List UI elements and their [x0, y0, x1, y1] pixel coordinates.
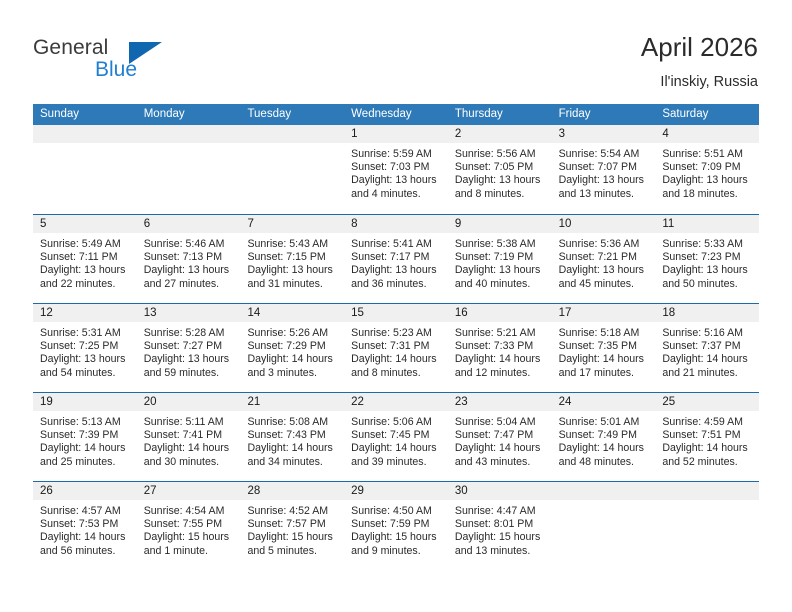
- day-detail-line: Sunrise: 5:43 AM: [247, 238, 338, 251]
- day-details: [240, 143, 344, 148]
- day-detail-line: Sunrise: 5:51 AM: [662, 148, 753, 161]
- day-number: 30: [448, 482, 552, 500]
- weekday-header-wednesday: Wednesday: [344, 104, 448, 125]
- day-detail-line: Sunrise: 5:38 AM: [455, 238, 546, 251]
- day-details: Sunrise: 5:46 AMSunset: 7:13 PMDaylight:…: [137, 233, 241, 291]
- day-detail-line: Sunrise: 5:01 AM: [559, 416, 650, 429]
- calendar-day-cell[interactable]: 20Sunrise: 5:11 AMSunset: 7:41 PMDayligh…: [137, 393, 241, 481]
- day-number: 20: [137, 393, 241, 411]
- day-detail-line: and 4 minutes.: [351, 188, 442, 201]
- day-number: 22: [344, 393, 448, 411]
- day-detail-line: Daylight: 13 hours: [351, 174, 442, 187]
- day-detail-line: and 1 minute.: [144, 545, 235, 558]
- day-detail-line: Sunset: 7:45 PM: [351, 429, 442, 442]
- day-detail-line: Sunrise: 5:04 AM: [455, 416, 546, 429]
- day-detail-line: Daylight: 13 hours: [662, 174, 753, 187]
- calendar-day-cell[interactable]: 6Sunrise: 5:46 AMSunset: 7:13 PMDaylight…: [137, 215, 241, 303]
- calendar-week-row: 5Sunrise: 5:49 AMSunset: 7:11 PMDaylight…: [33, 214, 759, 303]
- day-detail-line: and 17 minutes.: [559, 367, 650, 380]
- day-number: 24: [552, 393, 656, 411]
- day-number: 6: [137, 215, 241, 233]
- day-detail-line: Sunrise: 5:46 AM: [144, 238, 235, 251]
- day-number: [240, 125, 344, 143]
- day-details: Sunrise: 4:57 AMSunset: 7:53 PMDaylight:…: [33, 500, 137, 558]
- day-details: Sunrise: 5:38 AMSunset: 7:19 PMDaylight:…: [448, 233, 552, 291]
- day-detail-line: Sunrise: 4:52 AM: [247, 505, 338, 518]
- day-detail-line: Daylight: 14 hours: [40, 531, 131, 544]
- day-detail-line: Sunset: 7:11 PM: [40, 251, 131, 264]
- calendar-day-cell[interactable]: 2Sunrise: 5:56 AMSunset: 7:05 PMDaylight…: [448, 125, 552, 214]
- day-details: Sunrise: 5:11 AMSunset: 7:41 PMDaylight:…: [137, 411, 241, 469]
- day-details: Sunrise: 5:54 AMSunset: 7:07 PMDaylight:…: [552, 143, 656, 201]
- day-number: 25: [655, 393, 759, 411]
- day-number: 4: [655, 125, 759, 143]
- day-details: Sunrise: 4:50 AMSunset: 7:59 PMDaylight:…: [344, 500, 448, 558]
- calendar-week-row: 19Sunrise: 5:13 AMSunset: 7:39 PMDayligh…: [33, 392, 759, 481]
- day-detail-line: and 13 minutes.: [455, 545, 546, 558]
- page-title: April 2026: [641, 32, 758, 62]
- day-details: Sunrise: 5:01 AMSunset: 7:49 PMDaylight:…: [552, 411, 656, 469]
- day-detail-line: Sunset: 7:49 PM: [559, 429, 650, 442]
- day-number: 9: [448, 215, 552, 233]
- day-detail-line: Sunset: 7:31 PM: [351, 340, 442, 353]
- day-detail-line: Sunset: 8:01 PM: [455, 518, 546, 531]
- day-detail-line: and 30 minutes.: [144, 456, 235, 469]
- day-details: Sunrise: 4:54 AMSunset: 7:55 PMDaylight:…: [137, 500, 241, 558]
- day-detail-line: and 43 minutes.: [455, 456, 546, 469]
- day-number: 19: [33, 393, 137, 411]
- day-detail-line: and 21 minutes.: [662, 367, 753, 380]
- day-detail-line: Sunset: 7:23 PM: [662, 251, 753, 264]
- calendar-day-cell[interactable]: 8Sunrise: 5:41 AMSunset: 7:17 PMDaylight…: [344, 215, 448, 303]
- weekday-header-row: SundayMondayTuesdayWednesdayThursdayFrid…: [33, 104, 759, 125]
- day-number: [552, 482, 656, 500]
- day-number: 26: [33, 482, 137, 500]
- day-detail-line: Daylight: 14 hours: [40, 442, 131, 455]
- weekday-header-sunday: Sunday: [33, 104, 137, 125]
- day-detail-line: Sunset: 7:55 PM: [144, 518, 235, 531]
- day-number: 2: [448, 125, 552, 143]
- day-detail-line: Sunrise: 5:54 AM: [559, 148, 650, 161]
- day-detail-line: Sunset: 7:37 PM: [662, 340, 753, 353]
- day-details: Sunrise: 4:52 AMSunset: 7:57 PMDaylight:…: [240, 500, 344, 558]
- day-detail-line: Sunset: 7:25 PM: [40, 340, 131, 353]
- day-detail-line: Sunrise: 4:47 AM: [455, 505, 546, 518]
- day-detail-line: Daylight: 14 hours: [247, 353, 338, 366]
- day-details: Sunrise: 5:18 AMSunset: 7:35 PMDaylight:…: [552, 322, 656, 380]
- day-number: 14: [240, 304, 344, 322]
- calendar-day-cell[interactable]: 5Sunrise: 5:49 AMSunset: 7:11 PMDaylight…: [33, 215, 137, 303]
- calendar-day-cell-empty: [552, 482, 656, 570]
- day-detail-line: and 50 minutes.: [662, 278, 753, 291]
- day-number: 21: [240, 393, 344, 411]
- day-detail-line: Sunset: 7:33 PM: [455, 340, 546, 353]
- calendar-day-cell[interactable]: 25Sunrise: 4:59 AMSunset: 7:51 PMDayligh…: [655, 393, 759, 481]
- day-details: Sunrise: 5:23 AMSunset: 7:31 PMDaylight:…: [344, 322, 448, 380]
- day-detail-line: Daylight: 13 hours: [455, 174, 546, 187]
- day-detail-line: Sunrise: 5:26 AM: [247, 327, 338, 340]
- day-detail-line: and 27 minutes.: [144, 278, 235, 291]
- day-detail-line: Daylight: 13 hours: [455, 264, 546, 277]
- calendar-day-cell[interactable]: 26Sunrise: 4:57 AMSunset: 7:53 PMDayligh…: [33, 482, 137, 570]
- calendar-day-cell[interactable]: 1Sunrise: 5:59 AMSunset: 7:03 PMDaylight…: [344, 125, 448, 214]
- day-detail-line: Sunrise: 5:56 AM: [455, 148, 546, 161]
- day-details: [552, 500, 656, 505]
- day-detail-line: Sunset: 7:13 PM: [144, 251, 235, 264]
- day-details: Sunrise: 5:51 AMSunset: 7:09 PMDaylight:…: [655, 143, 759, 201]
- day-detail-line: Daylight: 14 hours: [144, 442, 235, 455]
- day-detail-line: and 36 minutes.: [351, 278, 442, 291]
- calendar-weeks: 1Sunrise: 5:59 AMSunset: 7:03 PMDaylight…: [33, 125, 759, 570]
- day-details: Sunrise: 5:28 AMSunset: 7:27 PMDaylight:…: [137, 322, 241, 380]
- page-header: General Blue April 2026 Il'inskiy, Russi…: [0, 0, 792, 104]
- calendar-day-cell[interactable]: 22Sunrise: 5:06 AMSunset: 7:45 PMDayligh…: [344, 393, 448, 481]
- calendar-day-cell[interactable]: 24Sunrise: 5:01 AMSunset: 7:49 PMDayligh…: [552, 393, 656, 481]
- calendar-day-cell[interactable]: 10Sunrise: 5:36 AMSunset: 7:21 PMDayligh…: [552, 215, 656, 303]
- day-number: 17: [552, 304, 656, 322]
- day-detail-line: Sunrise: 5:21 AM: [455, 327, 546, 340]
- day-number: [655, 482, 759, 500]
- day-detail-line: Daylight: 13 hours: [40, 353, 131, 366]
- day-detail-line: and 8 minutes.: [455, 188, 546, 201]
- day-detail-line: Daylight: 14 hours: [351, 353, 442, 366]
- day-number: 13: [137, 304, 241, 322]
- logo-text-blue: Blue: [95, 58, 137, 82]
- weekday-header-thursday: Thursday: [448, 104, 552, 125]
- day-detail-line: and 45 minutes.: [559, 278, 650, 291]
- day-detail-line: and 8 minutes.: [351, 367, 442, 380]
- day-detail-line: Sunset: 7:09 PM: [662, 161, 753, 174]
- day-details: Sunrise: 5:33 AMSunset: 7:23 PMDaylight:…: [655, 233, 759, 291]
- calendar-day-cell[interactable]: 15Sunrise: 5:23 AMSunset: 7:31 PMDayligh…: [344, 304, 448, 392]
- day-number: 18: [655, 304, 759, 322]
- day-number: 29: [344, 482, 448, 500]
- day-detail-line: and 39 minutes.: [351, 456, 442, 469]
- day-detail-line: Sunset: 7:53 PM: [40, 518, 131, 531]
- day-details: Sunrise: 5:16 AMSunset: 7:37 PMDaylight:…: [655, 322, 759, 380]
- day-detail-line: Sunset: 7:35 PM: [559, 340, 650, 353]
- weekday-header-monday: Monday: [137, 104, 241, 125]
- calendar-week-row: 12Sunrise: 5:31 AMSunset: 7:25 PMDayligh…: [33, 303, 759, 392]
- weekday-header-tuesday: Tuesday: [240, 104, 344, 125]
- day-detail-line: and 54 minutes.: [40, 367, 131, 380]
- day-detail-line: Sunrise: 5:08 AM: [247, 416, 338, 429]
- day-number: 1: [344, 125, 448, 143]
- day-detail-line: Daylight: 15 hours: [144, 531, 235, 544]
- day-detail-line: Sunrise: 5:16 AM: [662, 327, 753, 340]
- day-details: Sunrise: 5:21 AMSunset: 7:33 PMDaylight:…: [448, 322, 552, 380]
- day-detail-line: Daylight: 14 hours: [247, 442, 338, 455]
- day-details: Sunrise: 5:36 AMSunset: 7:21 PMDaylight:…: [552, 233, 656, 291]
- day-detail-line: Sunset: 7:51 PM: [662, 429, 753, 442]
- day-number: 3: [552, 125, 656, 143]
- day-detail-line: and 12 minutes.: [455, 367, 546, 380]
- weekday-header-saturday: Saturday: [655, 104, 759, 125]
- day-details: Sunrise: 4:47 AMSunset: 8:01 PMDaylight:…: [448, 500, 552, 558]
- day-detail-line: Sunrise: 5:11 AM: [144, 416, 235, 429]
- day-detail-line: Daylight: 13 hours: [247, 264, 338, 277]
- calendar-day-cell[interactable]: 7Sunrise: 5:43 AMSunset: 7:15 PMDaylight…: [240, 215, 344, 303]
- day-detail-line: Sunrise: 5:36 AM: [559, 238, 650, 251]
- day-detail-line: Daylight: 13 hours: [559, 174, 650, 187]
- day-detail-line: Daylight: 15 hours: [455, 531, 546, 544]
- calendar-day-cell[interactable]: 11Sunrise: 5:33 AMSunset: 7:23 PMDayligh…: [655, 215, 759, 303]
- day-details: Sunrise: 5:56 AMSunset: 7:05 PMDaylight:…: [448, 143, 552, 201]
- day-detail-line: Sunset: 7:19 PM: [455, 251, 546, 264]
- day-detail-line: and 48 minutes.: [559, 456, 650, 469]
- day-detail-line: Sunset: 7:21 PM: [559, 251, 650, 264]
- day-number: 12: [33, 304, 137, 322]
- day-detail-line: Daylight: 13 hours: [662, 264, 753, 277]
- calendar-day-cell-empty: [137, 125, 241, 214]
- calendar-day-cell[interactable]: 19Sunrise: 5:13 AMSunset: 7:39 PMDayligh…: [33, 393, 137, 481]
- calendar-day-cell[interactable]: 16Sunrise: 5:21 AMSunset: 7:33 PMDayligh…: [448, 304, 552, 392]
- day-number: 8: [344, 215, 448, 233]
- day-detail-line: Sunrise: 5:13 AM: [40, 416, 131, 429]
- day-detail-line: Sunset: 7:43 PM: [247, 429, 338, 442]
- day-detail-line: Sunset: 7:03 PM: [351, 161, 442, 174]
- day-detail-line: and 5 minutes.: [247, 545, 338, 558]
- day-details: Sunrise: 5:31 AMSunset: 7:25 PMDaylight:…: [33, 322, 137, 380]
- day-detail-line: Sunrise: 4:50 AM: [351, 505, 442, 518]
- day-detail-line: and 9 minutes.: [351, 545, 442, 558]
- day-detail-line: and 31 minutes.: [247, 278, 338, 291]
- day-detail-line: Sunset: 7:47 PM: [455, 429, 546, 442]
- calendar-day-cell[interactable]: 3Sunrise: 5:54 AMSunset: 7:07 PMDaylight…: [552, 125, 656, 214]
- day-detail-line: Sunset: 7:17 PM: [351, 251, 442, 264]
- day-detail-line: and 13 minutes.: [559, 188, 650, 201]
- day-detail-line: Sunrise: 5:41 AM: [351, 238, 442, 251]
- day-details: Sunrise: 5:08 AMSunset: 7:43 PMDaylight:…: [240, 411, 344, 469]
- day-detail-line: Daylight: 14 hours: [351, 442, 442, 455]
- day-details: [655, 500, 759, 505]
- calendar-day-cell[interactable]: 13Sunrise: 5:28 AMSunset: 7:27 PMDayligh…: [137, 304, 241, 392]
- day-detail-line: Sunset: 7:27 PM: [144, 340, 235, 353]
- day-detail-line: and 22 minutes.: [40, 278, 131, 291]
- calendar-day-cell[interactable]: 9Sunrise: 5:38 AMSunset: 7:19 PMDaylight…: [448, 215, 552, 303]
- calendar-day-cell[interactable]: 17Sunrise: 5:18 AMSunset: 7:35 PMDayligh…: [552, 304, 656, 392]
- page-subtitle: Il'inskiy, Russia: [641, 72, 758, 92]
- calendar-day-cell[interactable]: 29Sunrise: 4:50 AMSunset: 7:59 PMDayligh…: [344, 482, 448, 570]
- day-detail-line: Sunset: 7:57 PM: [247, 518, 338, 531]
- day-details: Sunrise: 5:41 AMSunset: 7:17 PMDaylight:…: [344, 233, 448, 291]
- day-detail-line: Sunset: 7:15 PM: [247, 251, 338, 264]
- day-details: Sunrise: 5:43 AMSunset: 7:15 PMDaylight:…: [240, 233, 344, 291]
- day-detail-line: Daylight: 15 hours: [247, 531, 338, 544]
- day-detail-line: and 3 minutes.: [247, 367, 338, 380]
- day-detail-line: Daylight: 14 hours: [559, 353, 650, 366]
- day-detail-line: Sunrise: 4:59 AM: [662, 416, 753, 429]
- calendar-grid: SundayMondayTuesdayWednesdayThursdayFrid…: [33, 104, 759, 570]
- calendar-day-cell-empty: [240, 125, 344, 214]
- day-details: Sunrise: 4:59 AMSunset: 7:51 PMDaylight:…: [655, 411, 759, 469]
- calendar-day-cell[interactable]: 14Sunrise: 5:26 AMSunset: 7:29 PMDayligh…: [240, 304, 344, 392]
- day-detail-line: Daylight: 14 hours: [455, 442, 546, 455]
- day-detail-line: Sunrise: 4:57 AM: [40, 505, 131, 518]
- day-detail-line: Daylight: 14 hours: [455, 353, 546, 366]
- day-detail-line: and 25 minutes.: [40, 456, 131, 469]
- day-number: 10: [552, 215, 656, 233]
- day-number: 28: [240, 482, 344, 500]
- calendar-day-cell[interactable]: 23Sunrise: 5:04 AMSunset: 7:47 PMDayligh…: [448, 393, 552, 481]
- day-number: 15: [344, 304, 448, 322]
- calendar-week-row: 1Sunrise: 5:59 AMSunset: 7:03 PMDaylight…: [33, 125, 759, 214]
- weekday-header-friday: Friday: [552, 104, 656, 125]
- day-detail-line: Sunset: 7:41 PM: [144, 429, 235, 442]
- day-detail-line: Sunrise: 5:33 AM: [662, 238, 753, 251]
- title-block: April 2026 Il'inskiy, Russia: [641, 32, 758, 92]
- day-details: Sunrise: 5:06 AMSunset: 7:45 PMDaylight:…: [344, 411, 448, 469]
- calendar-day-cell[interactable]: 30Sunrise: 4:47 AMSunset: 8:01 PMDayligh…: [448, 482, 552, 570]
- day-detail-line: and 34 minutes.: [247, 456, 338, 469]
- general-blue-logo: General Blue: [33, 36, 213, 84]
- day-detail-line: Sunset: 7:39 PM: [40, 429, 131, 442]
- day-detail-line: Sunrise: 5:28 AM: [144, 327, 235, 340]
- day-detail-line: Daylight: 13 hours: [144, 264, 235, 277]
- day-detail-line: Sunset: 7:07 PM: [559, 161, 650, 174]
- day-number: [137, 125, 241, 143]
- day-detail-line: Sunrise: 5:59 AM: [351, 148, 442, 161]
- day-details: Sunrise: 5:59 AMSunset: 7:03 PMDaylight:…: [344, 143, 448, 201]
- day-details: [33, 143, 137, 148]
- day-detail-line: Sunset: 7:05 PM: [455, 161, 546, 174]
- day-number: [33, 125, 137, 143]
- day-detail-line: Daylight: 14 hours: [662, 353, 753, 366]
- day-number: 16: [448, 304, 552, 322]
- calendar-day-cell[interactable]: 4Sunrise: 5:51 AMSunset: 7:09 PMDaylight…: [655, 125, 759, 214]
- calendar-day-cell[interactable]: 27Sunrise: 4:54 AMSunset: 7:55 PMDayligh…: [137, 482, 241, 570]
- calendar-day-cell-empty: [33, 125, 137, 214]
- day-details: Sunrise: 5:49 AMSunset: 7:11 PMDaylight:…: [33, 233, 137, 291]
- day-detail-line: Daylight: 15 hours: [351, 531, 442, 544]
- day-number: 27: [137, 482, 241, 500]
- day-detail-line: Daylight: 13 hours: [144, 353, 235, 366]
- day-detail-line: Sunrise: 4:54 AM: [144, 505, 235, 518]
- day-details: Sunrise: 5:04 AMSunset: 7:47 PMDaylight:…: [448, 411, 552, 469]
- day-detail-line: Sunrise: 5:23 AM: [351, 327, 442, 340]
- calendar-page: General Blue April 2026 Il'inskiy, Russi…: [0, 0, 792, 612]
- calendar-week-row: 26Sunrise: 4:57 AMSunset: 7:53 PMDayligh…: [33, 481, 759, 570]
- day-detail-line: and 59 minutes.: [144, 367, 235, 380]
- day-details: [137, 143, 241, 148]
- day-detail-line: and 18 minutes.: [662, 188, 753, 201]
- calendar-day-cell-empty: [655, 482, 759, 570]
- day-detail-line: Sunset: 7:59 PM: [351, 518, 442, 531]
- day-number: 7: [240, 215, 344, 233]
- day-detail-line: Daylight: 14 hours: [559, 442, 650, 455]
- day-detail-line: Daylight: 13 hours: [40, 264, 131, 277]
- calendar-day-cell[interactable]: 18Sunrise: 5:16 AMSunset: 7:37 PMDayligh…: [655, 304, 759, 392]
- day-detail-line: Sunset: 7:29 PM: [247, 340, 338, 353]
- logo-text-general: General: [33, 36, 108, 60]
- day-number: 5: [33, 215, 137, 233]
- day-detail-line: Sunrise: 5:06 AM: [351, 416, 442, 429]
- day-detail-line: and 56 minutes.: [40, 545, 131, 558]
- day-detail-line: Sunrise: 5:31 AM: [40, 327, 131, 340]
- day-detail-line: Sunrise: 5:18 AM: [559, 327, 650, 340]
- day-details: Sunrise: 5:13 AMSunset: 7:39 PMDaylight:…: [33, 411, 137, 469]
- calendar-day-cell[interactable]: 12Sunrise: 5:31 AMSunset: 7:25 PMDayligh…: [33, 304, 137, 392]
- day-detail-line: and 52 minutes.: [662, 456, 753, 469]
- day-detail-line: and 40 minutes.: [455, 278, 546, 291]
- day-detail-line: Daylight: 14 hours: [662, 442, 753, 455]
- calendar-day-cell[interactable]: 21Sunrise: 5:08 AMSunset: 7:43 PMDayligh…: [240, 393, 344, 481]
- day-detail-line: Daylight: 13 hours: [559, 264, 650, 277]
- day-detail-line: Sunrise: 5:49 AM: [40, 238, 131, 251]
- day-number: 23: [448, 393, 552, 411]
- day-details: Sunrise: 5:26 AMSunset: 7:29 PMDaylight:…: [240, 322, 344, 380]
- day-detail-line: Daylight: 13 hours: [351, 264, 442, 277]
- day-number: 11: [655, 215, 759, 233]
- calendar-day-cell[interactable]: 28Sunrise: 4:52 AMSunset: 7:57 PMDayligh…: [240, 482, 344, 570]
